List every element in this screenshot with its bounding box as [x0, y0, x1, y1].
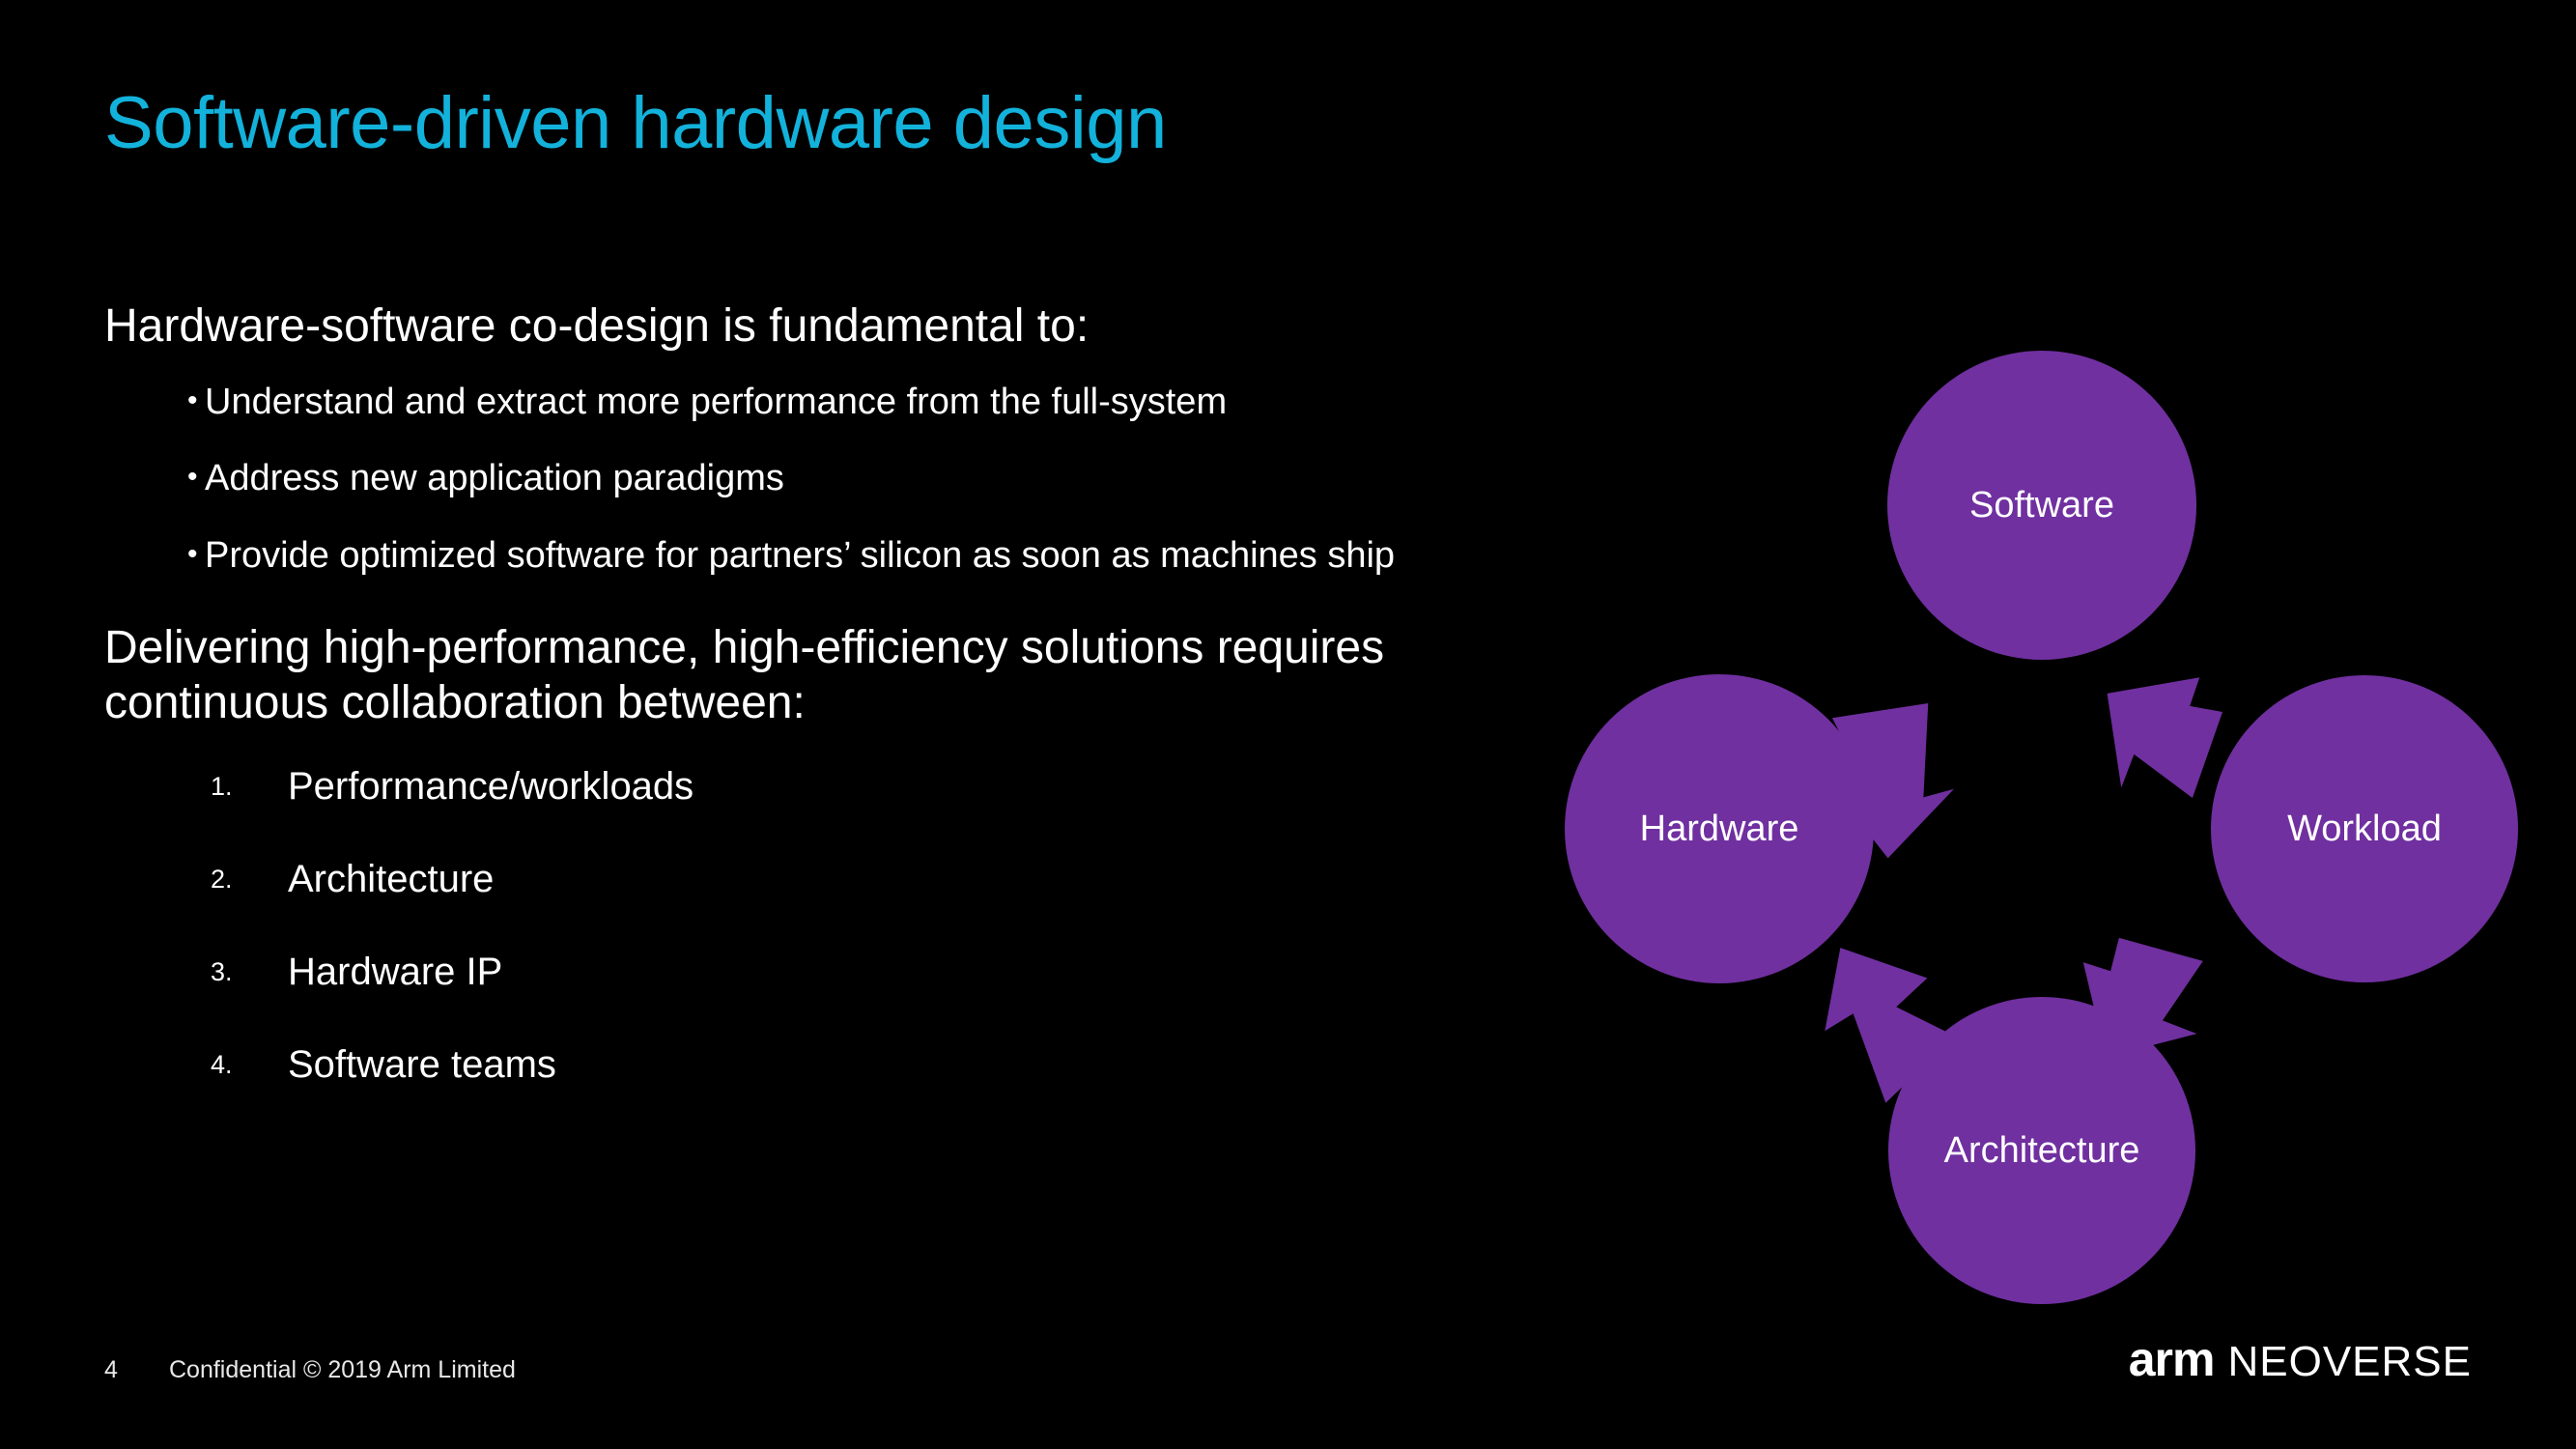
- numbered-list: 1. Performance/workloads 2. Architecture…: [104, 763, 1553, 1088]
- list-item: 2. Architecture: [104, 856, 1553, 902]
- number-text: Performance/workloads: [288, 765, 694, 808]
- bullet-marker: •: [187, 456, 198, 498]
- confidentiality-notice: Confidential © 2019 Arm Limited: [169, 1356, 516, 1384]
- bullet-text: Understand and extract more performance …: [205, 382, 1227, 422]
- bullet-marker: •: [187, 533, 198, 576]
- cycle-diagram: Software Workload Architecture Hardware: [1516, 319, 2540, 1323]
- list-item: • Address new application paradigms: [104, 456, 1553, 502]
- list-item: 4. Software teams: [104, 1041, 1553, 1088]
- arm-neoverse-logo: arm NEOVERSE: [2129, 1335, 2472, 1383]
- page-number: 4: [104, 1356, 118, 1384]
- list-item: • Provide optimized software for partner…: [104, 533, 1553, 580]
- page-title: Software-driven hardware design: [104, 81, 1167, 165]
- arm-wordmark: arm: [2129, 1335, 2215, 1383]
- number-text: Architecture: [288, 858, 494, 900]
- number-marker: 4.: [211, 1049, 233, 1080]
- bullet-list: • Understand and extract more performanc…: [104, 380, 1553, 580]
- list-item: 3. Hardware IP: [104, 949, 1553, 995]
- neoverse-wordmark: NEOVERSE: [2227, 1341, 2472, 1383]
- lead-paragraph-1: Hardware-software co-design is fundament…: [104, 299, 1553, 355]
- cycle-label-hardware: Hardware: [1640, 809, 1799, 849]
- bullet-text: Address new application paradigms: [205, 458, 784, 498]
- bullet-text: Provide optimized software for partners’…: [205, 535, 1395, 576]
- body-content: Hardware-software co-design is fundament…: [104, 299, 1553, 1134]
- cycle-label-software: Software: [1969, 485, 2114, 526]
- slide: Software-driven hardware design Hardware…: [0, 0, 2576, 1449]
- list-item: 1. Performance/workloads: [104, 763, 1553, 810]
- number-text: Hardware IP: [288, 951, 502, 993]
- bullet-marker: •: [187, 380, 198, 422]
- cycle-label-workload: Workload: [2287, 809, 2442, 849]
- number-marker: 1.: [211, 771, 233, 802]
- number-marker: 2.: [211, 864, 233, 895]
- number-text: Software teams: [288, 1043, 556, 1086]
- cycle-label-architecture: Architecture: [1944, 1130, 2140, 1171]
- list-item: • Understand and extract more performanc…: [104, 380, 1553, 426]
- cycle-arrow-software-to-workload: [2104, 674, 2223, 799]
- number-marker: 3.: [211, 956, 233, 987]
- lead-paragraph-2: Delivering high-performance, high-effici…: [104, 621, 1553, 730]
